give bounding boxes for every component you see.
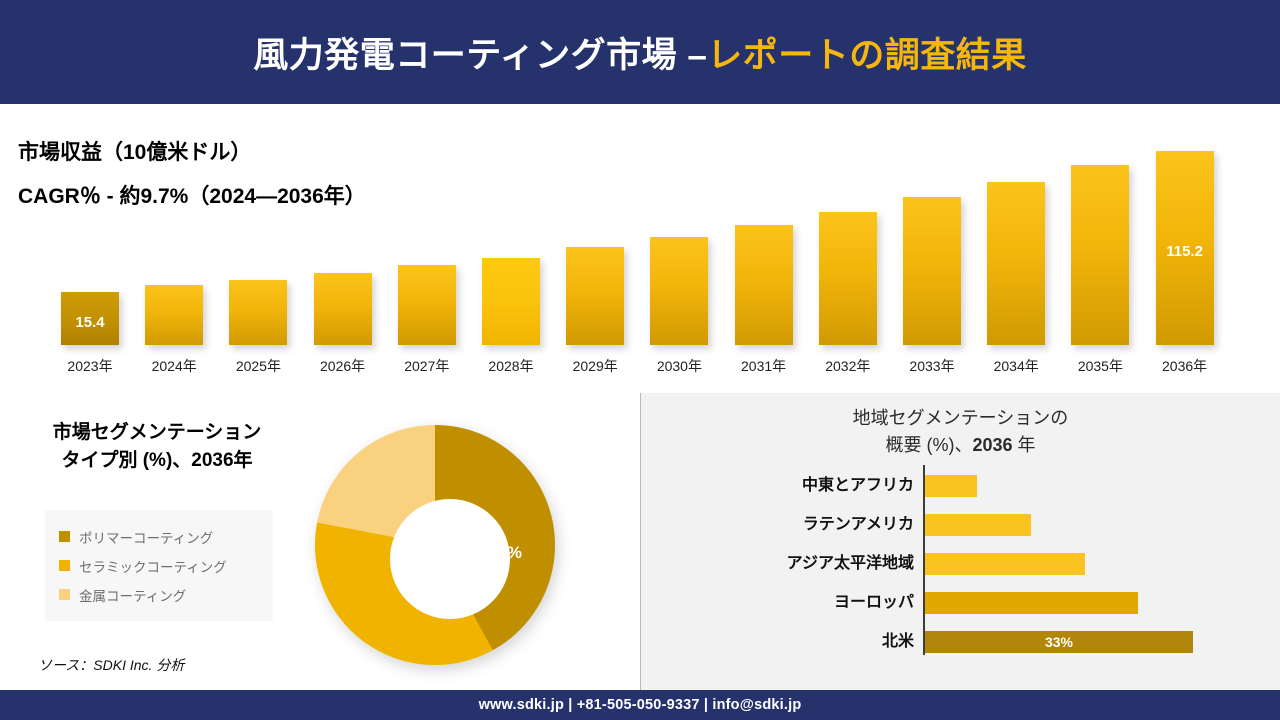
page-footer: www.sdki.jp | +81-505-050-9337 | info@sd… [0,690,1280,720]
revenue-bar-label: 2029年 [560,356,630,376]
revenue-bar: 2034年 [987,182,1045,345]
region-title-line2-c: 年 [1013,435,1036,455]
revenue-bar-label: 2030年 [644,356,714,376]
type-segmentation-panel: 市場セグメンテーション タイプ別 (%)、2036年 ポリマーコーティングセラミ… [0,393,641,690]
donut-data-label: 42% [488,543,522,563]
region-bar [925,514,1031,536]
region-bar-chart: 中東とアフリカラテンアメリカアジア太平洋地域ヨーロッパ北米33% [641,465,1280,665]
revenue-bar: 2035年 [1071,165,1129,345]
revenue-bar-column: 2027年 [398,265,456,345]
region-bar-label: ラテンアメリカ [684,514,914,536]
legend-label: 金属コーティング [79,585,186,605]
revenue-bar-label: 2026年 [308,356,378,376]
revenue-bar-column: 2030年 [650,237,708,345]
legend-swatch-icon [59,560,70,571]
region-bar-label: ヨーロッパ [684,592,914,614]
revenue-bar-column: 115.22036年 [1156,151,1214,345]
revenue-bar-column: 2032年 [819,212,877,345]
revenue-bar-column: 2028年 [482,258,540,345]
revenue-bar-value: 15.4 [61,314,119,331]
revenue-bar: 2029年 [566,247,624,345]
revenue-bar-column: 2033年 [903,197,961,345]
page-title-primary: 風力発電コーティング市場 – [253,36,707,75]
revenue-bar-column: 15.42023年 [61,292,119,345]
infographic-page: 風力発電コーティング市場 –レポートの調査結果 市場収益（10億米ドル） CAG… [0,0,1280,720]
type-segmentation-title-line1: 市場セグメンテーション [22,419,292,447]
page-title-accent: レポートの調査結果 [707,36,1027,75]
revenue-bar-value: 115.2 [1156,243,1214,260]
revenue-bar-column: 2029年 [566,247,624,345]
legend-swatch-icon [59,589,70,600]
revenue-bar-label: 2036年 [1150,356,1220,376]
revenue-bar: 2026年 [314,273,372,345]
page-title: 風力発電コーティング市場 –レポートの調査結果 [253,27,1027,78]
region-bar [925,553,1085,575]
region-bar-row: ラテンアメリカ [641,514,1280,536]
type-segmentation-donut-chart: 42% [300,411,580,676]
source-note: ソース：SDKI Inc. 分析 [38,655,184,675]
legend-item: 金属コーティング [59,580,263,609]
revenue-bar-label: 2025年 [223,356,293,376]
region-title-year: 2036 [972,435,1012,455]
footer-contact-text: www.sdki.jp | +81-505-050-9337 | info@sd… [479,697,802,713]
type-segmentation-title: 市場セグメンテーション タイプ別 (%)、2036年 [22,419,292,474]
revenue-bar: 2027年 [398,265,456,345]
revenue-bar-label: 2031年 [729,356,799,376]
revenue-bar-column: 2026年 [314,273,372,345]
revenue-bar-label: 2033年 [897,356,967,376]
revenue-bar-label: 2028年 [476,356,546,376]
revenue-bar-column: 2025年 [229,280,287,345]
region-bar-label: 中東とアフリカ [684,475,914,497]
legend-label: ポリマーコーティング [79,527,213,547]
revenue-bar-column: 2031年 [735,225,793,345]
revenue-bar: 2025年 [229,280,287,345]
revenue-bar-label: 2027年 [392,356,462,376]
revenue-bar-column: 2024年 [145,285,203,345]
revenue-bar-label: 2035年 [1065,356,1135,376]
region-bar-row: ヨーロッパ [641,592,1280,614]
region-bar-value: 33% [925,631,1193,653]
region-bar [925,592,1138,614]
region-bar-label: アジア太平洋地域 [684,553,914,575]
market-revenue-bar-chart: 15.42023年2024年2025年2026年2027年2028年2029年2… [0,104,1280,393]
region-title-line2: 概要 (%)、2036 年 [641,432,1280,459]
region-segmentation-panel: 地域セグメンテーションの 概要 (%)、2036 年 中東とアフリカラテンアメリ… [641,393,1280,690]
revenue-bar: 15.42023年 [61,292,119,345]
region-bar-row: アジア太平洋地域 [641,553,1280,575]
revenue-bar: 115.22036年 [1156,151,1214,345]
type-segmentation-title-line2: タイプ別 (%)、2036年 [22,447,292,475]
region-segmentation-title: 地域セグメンテーションの 概要 (%)、2036 年 [641,405,1280,459]
legend-item: ポリマーコーティング [59,522,263,551]
revenue-bar-column: 2035年 [1071,165,1129,345]
revenue-bar-label: 2024年 [139,356,209,376]
revenue-bar-label: 2032年 [813,356,883,376]
region-bar-label: 北米 [684,631,914,653]
revenue-bar: 2024年 [145,285,203,345]
legend-swatch-icon [59,531,70,542]
revenue-bar: 2033年 [903,197,961,345]
type-segmentation-legend: ポリマーコーティングセラミックコーティング金属コーティング [45,510,273,621]
region-bar [925,475,977,497]
region-bar: 33% [925,631,1193,653]
revenue-bar: 2030年 [650,237,708,345]
page-header: 風力発電コーティング市場 –レポートの調査結果 [0,0,1280,104]
region-bar-row: 中東とアフリカ [641,475,1280,497]
market-revenue-section: 市場収益（10億米ドル） CAGR％ - 約9.7%（2024―2036年） 1… [0,104,1280,394]
region-title-line2-a: 概要 (%)、 [885,435,972,455]
region-title-line1: 地域セグメンテーションの [641,405,1280,432]
legend-item: セラミックコーティング [59,551,263,580]
revenue-bar: 2031年 [735,225,793,345]
legend-label: セラミックコーティング [79,556,227,576]
revenue-bar: 2028年 [482,258,540,345]
revenue-bar-column: 2034年 [987,182,1045,345]
region-bar-row: 北米33% [641,631,1280,653]
revenue-bar-label: 2023年 [55,356,125,376]
revenue-bar-label: 2034年 [981,356,1051,376]
revenue-bar: 2032年 [819,212,877,345]
